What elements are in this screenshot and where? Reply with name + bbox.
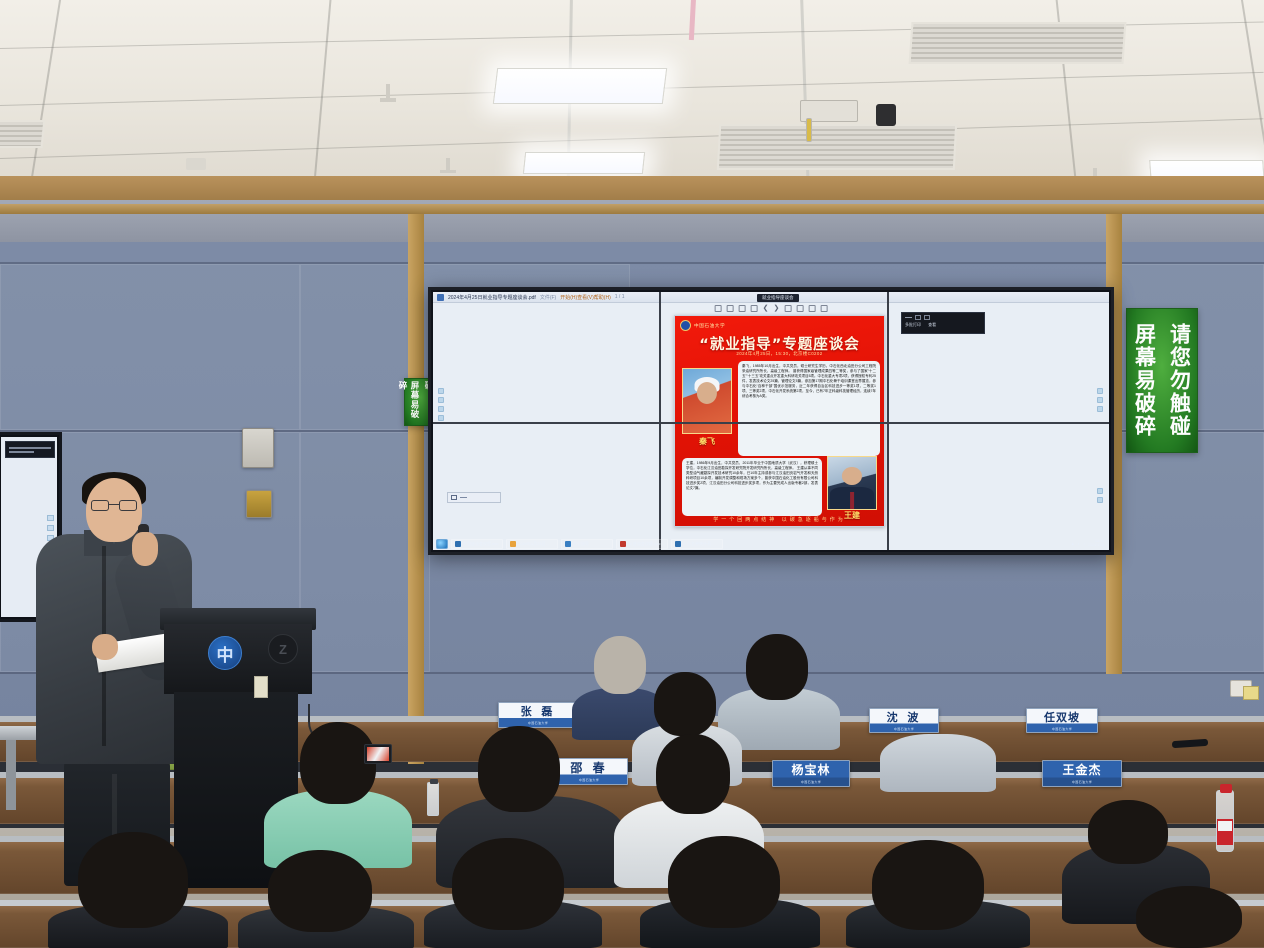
taskbar-button[interactable]: 2024年4月25日... [506,539,558,549]
speaker-2-photo [827,456,877,510]
page-icon[interactable] [451,495,457,500]
warning-text-col2: 屏幕易破碎 [396,381,420,423]
glasses-bridge [109,504,119,505]
next-page-icon[interactable]: ❯ [774,305,780,312]
side-table-leg [6,740,16,810]
bottle-label-white [1218,821,1232,831]
dialog-label: 多批打印 查看 [905,322,981,328]
water-bottle[interactable] [1216,790,1234,852]
poster-footer-slogan: 学一个回两点结神 以碳急逐船与作为 [675,516,884,523]
taskbar-button-label: 专题座谈会议程.doc [463,541,499,547]
floating-print-dialog[interactable]: 多批打印 查看 [901,312,985,334]
video-wall-bezel [433,422,1109,424]
audience-head [452,838,564,930]
nameplate-name: 沈 波 [870,709,938,725]
university-logo-row: 中国石油大学 [680,320,725,331]
nameplate: 张 磊 中国石油大学 [498,702,578,728]
audience-head [1136,886,1242,948]
video-wall-bezel [887,292,889,550]
excel-icon [675,541,681,547]
pdf-tab-label[interactable]: 就业指导座谈会 [757,294,799,302]
lecture-hall-photo: 屏幕易破碎 请您勿触碰 屏幕易破碎 请您勿触碰 2024年4月25 [0,0,1264,948]
pdf-icon [565,541,571,547]
thumbnail-icon[interactable] [715,305,722,312]
tray-network-icon[interactable]: ◐ [1078,541,1080,546]
left-display-popup[interactable] [5,441,55,458]
save-icon[interactable] [808,305,815,312]
wall-panel [1120,432,1264,672]
screen-warning-sign-right: 屏幕易破碎 请您勿触碰 [1126,308,1198,453]
zoom-out-icon[interactable] [739,305,746,312]
rotate-icon[interactable] [784,305,791,312]
wall-panel [0,264,300,430]
pdf-right-icons[interactable] [1097,388,1103,412]
smoke-detector [186,158,206,170]
taskbar-button[interactable]: 就业指导 [561,539,613,549]
audience-head [478,726,560,812]
pdf-right-icons-lower[interactable] [1097,488,1103,503]
taskbar-clock[interactable]: 15:31 2024/4/25 [1088,540,1104,548]
eyeglasses [884,878,910,885]
tray-volume-icon[interactable]: ♪ [1083,541,1085,546]
audience-body [880,734,996,792]
audience-head [594,636,646,694]
nameplate: 邵 春 中国石油大学 [550,758,628,785]
face-shape [842,467,862,485]
sprinkler-head [440,170,456,173]
bottle-cap [1220,784,1232,793]
presenter-hand-holding-papers [92,634,118,660]
video-wall-screen[interactable]: 2024年4月25日就业指导专题座谈会.pdf 文件(F) 开始(H)查看(V)… [433,292,1109,550]
word-icon [620,541,626,547]
pdf-file-title: 2024年4月25日就业指导专题座谈会.pdf [448,294,536,301]
sidebar-icon[interactable] [1097,388,1103,394]
podium-secondary-logo: Z [268,634,298,664]
wall-notice-card [1243,686,1259,700]
smartphone-camera[interactable] [364,744,392,764]
restore-icon[interactable] [915,315,921,320]
popup-line [9,447,51,449]
projector-arm [806,118,812,142]
ac-diffuser [717,124,957,170]
warning-text-col1: 请您勿触碰 [1165,323,1195,438]
nameplate-sub: 中国石油大学 [773,778,849,786]
tie-shape [850,492,854,509]
dialog-main-label: 多批打印 [905,322,921,327]
taskbar-button[interactable]: W 座谈会议题.doc [616,539,668,549]
pdf-side-icons[interactable] [438,388,444,421]
water-cup[interactable] [427,782,439,816]
video-wall-bezel [659,292,661,550]
wall-pillar [408,204,424,764]
print-icon[interactable] [796,305,803,312]
zoom-in-icon[interactable] [751,305,758,312]
sidebar-icon[interactable] [1097,397,1103,403]
popup-line [9,451,34,453]
doc-icon [455,541,461,547]
audience-head [1088,800,1168,864]
menu-group[interactable]: 开始(H)查看(V)帮助(H) [560,294,611,301]
ceiling-vent [909,22,1127,64]
university-emblem-icon: 中 [208,636,242,670]
nameplate-name: 杨宝林 [773,761,849,778]
windows-taskbar[interactable]: 专题座谈会议程.doc 2024年4月25日... 就业指导 W 座谈会议题.d… [433,537,1109,550]
taskbar-button-label: 人员名单统计表 [683,541,711,547]
menu-file[interactable]: 文件(F) [540,294,556,301]
taskbar-button-label: 就业指导 [573,541,589,547]
fit-page-icon[interactable] [727,305,734,312]
app-icon [437,294,444,301]
speaker-1-name: 秦飞 [682,436,732,447]
audience-head [268,850,372,932]
ceiling-light [493,68,667,104]
presenter-hand-holding-mic [132,532,158,566]
mini-toolbar-row[interactable] [451,495,497,500]
warning-text-col2: 屏幕易破碎 [1130,323,1160,438]
floating-mini-toolbar[interactable] [447,492,501,503]
video-wall-display[interactable]: 2024年4月25日就业指导专题座谈会.pdf 文件(F) 开始(H)查看(V)… [428,287,1114,555]
wall-control-panel[interactable] [242,428,274,468]
face-shape [697,382,717,404]
audience-head [654,672,716,736]
nameplate-name: 王金杰 [1043,761,1121,778]
seminar-poster: 中国石油大学 “就业指导”专题座谈会 2024年4月25日，15:30，北京楼C… [674,315,885,527]
audience-head [872,840,984,930]
ceiling-light [523,152,645,174]
speaker-1-bio: 秦飞，1985年10月出生，中共党员，硕士研究生学历。中石化西北油田分公司工程院… [738,361,880,456]
nameplate-name: 张 磊 [499,703,577,719]
nameplate: 杨宝林 中国石油大学 [772,760,850,787]
start-button[interactable] [436,539,448,549]
page-indicator: 1 / 1 [615,294,625,300]
nameplate-sub: 中国石油大学 [1043,778,1121,786]
minimize-icon[interactable] [905,317,912,318]
nameplate-sub: 中国石油大学 [870,725,938,732]
ceiling-vent [0,120,45,148]
sidebar-icon[interactable] [1097,406,1103,412]
university-name: 中国石油大学 [694,323,725,329]
clock-date: 2024/4/25 [1088,543,1104,547]
dialog-sub-label: 查看 [928,322,936,327]
system-tray[interactable]: ▲ ◐ ♪ 15:31 2024/4/25 [1071,540,1106,548]
poster-subtitle: 2024年4月25日，15:30，北京楼C0202 [675,351,884,357]
university-emblem-icon [680,320,691,331]
sidebar-icon[interactable] [438,406,444,412]
sprinkler-head [380,98,396,102]
presenter-glasses [91,500,137,511]
ceiling-camera [876,104,896,126]
sidebar-icon[interactable] [1097,488,1103,494]
lens-left [91,500,109,511]
folder-icon [510,541,516,547]
taskbar-button[interactable]: 专题座谈会议程.doc [451,539,503,549]
lens-right [119,500,137,511]
nameplate: 沈 波 中国石油大学 [869,708,939,733]
wall-speaker-panel[interactable] [246,490,272,518]
taskbar-button-label: 2024年4月25日... [518,541,549,547]
tray-icon[interactable]: ▲ [1071,541,1075,546]
audience-head [656,734,730,814]
sidebar-icon[interactable] [438,388,444,394]
delete-icon[interactable] [820,305,827,312]
wall-pillar [0,204,1264,214]
phone-screen [367,747,389,761]
sidebar-icon[interactable] [438,415,444,421]
dialog-icon-row[interactable] [905,315,981,320]
nameplate-sub: 中国石油大学 [1027,725,1097,732]
slider-track[interactable] [460,497,467,498]
nameplate: 王金杰 中国石油大学 [1042,760,1122,787]
taskbar-button-label: W 座谈会议题.doc [628,541,660,547]
prev-page-icon[interactable]: ❮ [763,305,769,312]
sidebar-icon[interactable] [1097,497,1103,503]
nameplate: 任双坡 中国石油大学 [1026,708,1098,733]
speaker-1-photo [682,368,732,434]
podium-nameplate [254,676,268,698]
audience-head [668,836,780,928]
audience-head [746,634,808,700]
speaker-2-bio: 王建，1986年9月出生，中共党员，2011年毕业于中国地质大学（武汉），获理硕… [682,458,822,516]
ceiling [0,0,1264,196]
nameplate-name: 任双坡 [1027,709,1097,725]
maximize-icon[interactable] [924,315,930,320]
taskbar-button[interactable]: 人员名单统计表 [671,539,723,549]
audience-head [78,832,188,928]
nameplate-name: 邵 春 [551,759,627,776]
cup-lid [430,779,438,784]
sidebar-icon[interactable] [438,397,444,403]
nameplate-sub: 中国石油大学 [551,776,627,784]
pdf-toolbar[interactable]: ❮ ❯ [711,304,832,313]
